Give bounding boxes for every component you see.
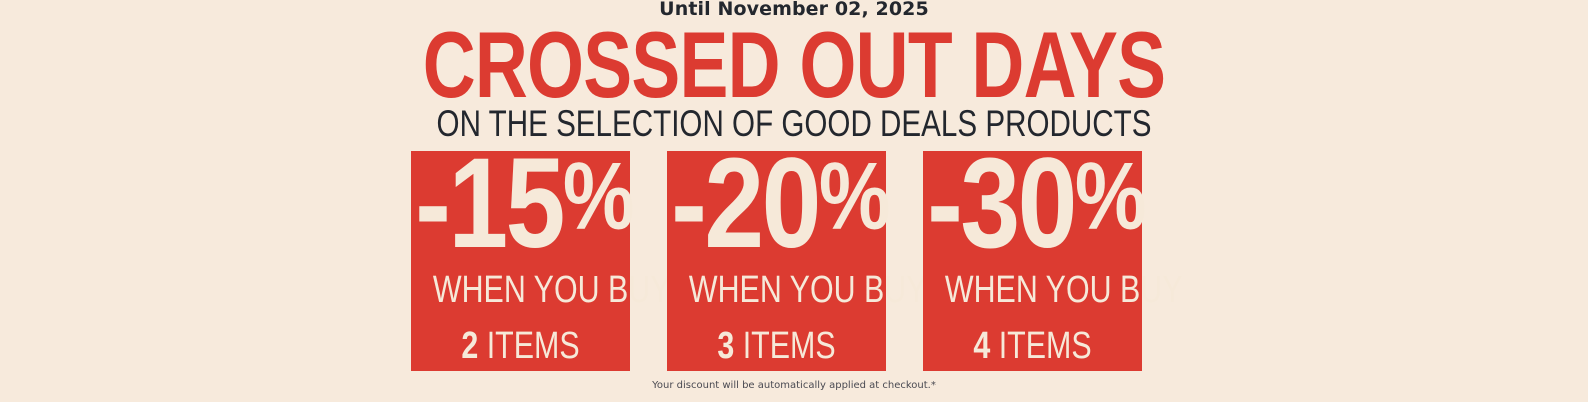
offer-unit: ITEMS bbox=[487, 325, 580, 367]
discount-number: -30 bbox=[927, 132, 1075, 275]
percent-icon: % bbox=[1075, 143, 1145, 250]
offer-card[interactable]: -30% WHEN YOU BUY 4 ITEMS bbox=[923, 151, 1142, 371]
offer-card-list: -15% WHEN YOU BUY 2 ITEMS -20% WHEN YOU … bbox=[411, 151, 1143, 371]
discount-value: -20% bbox=[671, 127, 882, 274]
disclaimer-text: Your discount will be automatically appl… bbox=[0, 379, 1588, 392]
discount-number: -15 bbox=[415, 132, 563, 275]
offer-card[interactable]: -15% WHEN YOU BUY 2 ITEMS bbox=[411, 151, 630, 371]
offer-condition: WHEN YOU BUY bbox=[945, 269, 1120, 311]
offer-condition: WHEN YOU BUY bbox=[433, 269, 608, 311]
offer-unit: ITEMS bbox=[743, 325, 836, 367]
promotional-banner: Until November 02, 2025 CROSSED OUT DAYS… bbox=[0, 0, 1588, 402]
offer-quantity-line: 2 ITEMS bbox=[433, 325, 608, 367]
offer-quantity-line: 4 ITEMS bbox=[945, 325, 1120, 367]
offer-card[interactable]: -20% WHEN YOU BUY 3 ITEMS bbox=[667, 151, 886, 371]
offer-condition: WHEN YOU BUY bbox=[689, 269, 864, 311]
percent-icon: % bbox=[819, 143, 889, 250]
offer-quantity: 3 bbox=[717, 325, 734, 367]
offer-quantity: 2 bbox=[461, 325, 478, 367]
offer-quantity: 4 bbox=[973, 325, 990, 367]
percent-icon: % bbox=[563, 143, 633, 250]
offer-quantity-line: 3 ITEMS bbox=[689, 325, 864, 367]
discount-number: -20 bbox=[671, 132, 819, 275]
offer-unit: ITEMS bbox=[999, 325, 1092, 367]
page-title: CROSSED OUT DAYS bbox=[175, 17, 1414, 113]
discount-value: -30% bbox=[927, 127, 1138, 274]
discount-value: -15% bbox=[415, 127, 626, 274]
